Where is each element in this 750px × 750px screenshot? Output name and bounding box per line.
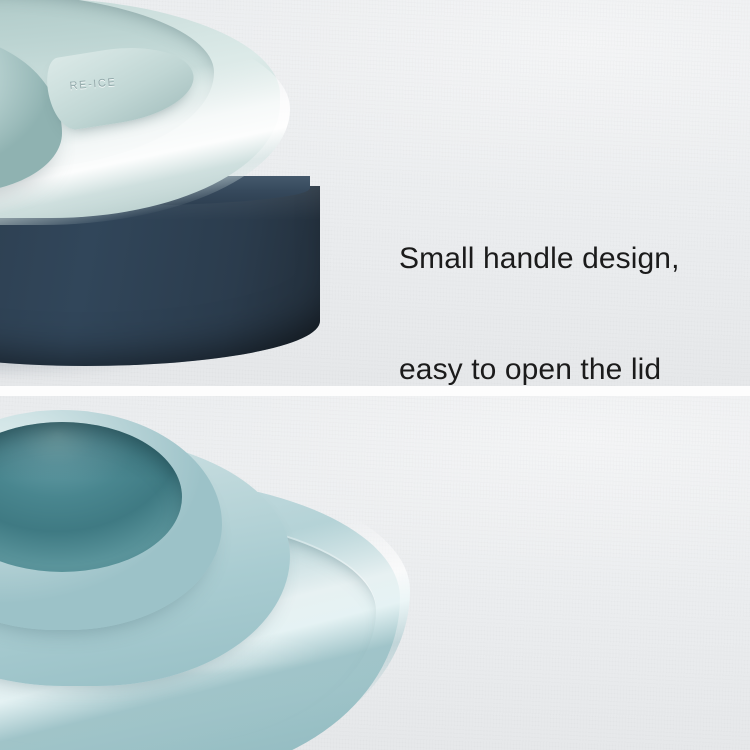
feature-panel-top: RE-ICE Small handle design, easy to open… — [0, 0, 750, 386]
panel-divider — [0, 386, 750, 396]
product-photo-lid-with-handle: RE-ICE — [0, 0, 370, 386]
product-photo-raised-edge-tray — [0, 396, 470, 750]
product-feature-image: RE-ICE Small handle design, easy to open… — [0, 0, 750, 750]
caption-top-line-2: easy to open the lid — [399, 351, 680, 386]
feature-panel-bottom: Raise the edge to prevent overflow — [0, 396, 750, 750]
brand-embossed-logo: RE-ICE — [69, 76, 117, 92]
caption-top-line-1: Small handle design, — [399, 240, 680, 277]
caption-top: Small handle design, easy to open the li… — [399, 166, 680, 386]
